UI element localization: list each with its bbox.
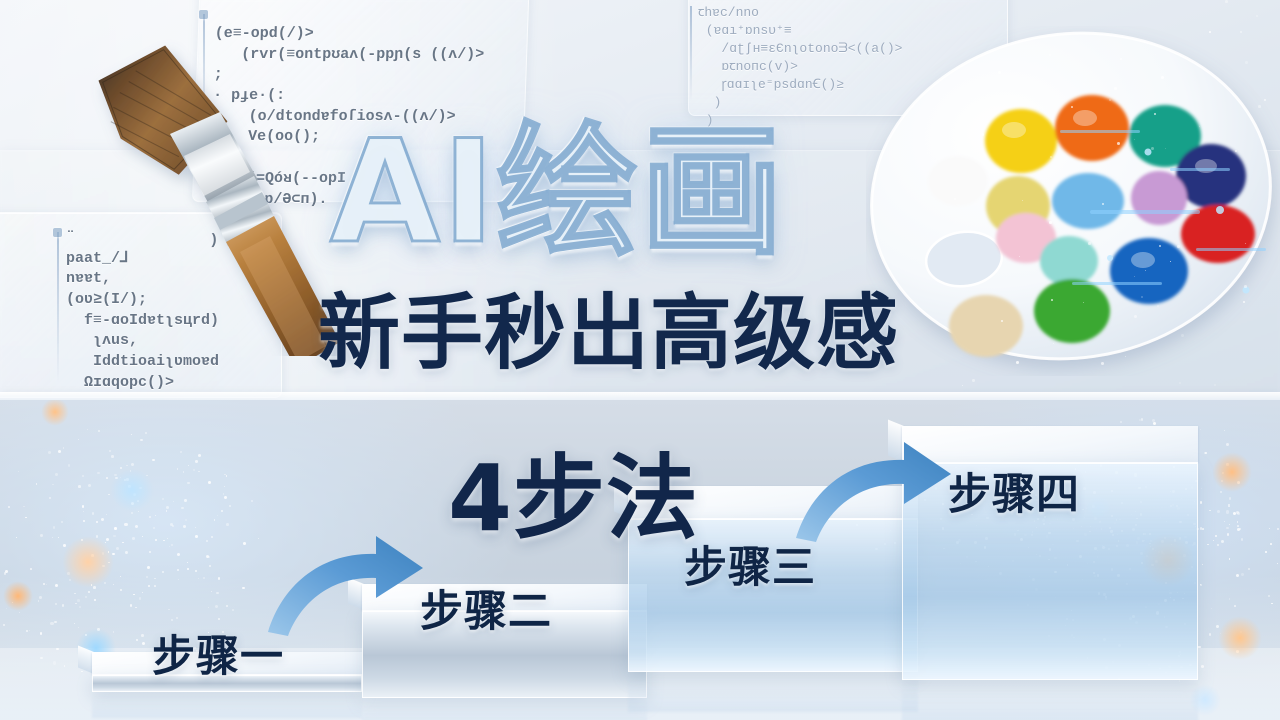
particle	[1224, 521, 1226, 523]
particle	[102, 565, 105, 568]
particle	[1240, 631, 1242, 633]
particle	[1222, 472, 1223, 473]
particle	[152, 459, 155, 462]
particle	[126, 478, 129, 481]
particle	[1164, 537, 1166, 539]
particle	[52, 537, 54, 539]
particle	[1073, 528, 1075, 530]
particle	[1178, 568, 1180, 570]
particle	[130, 604, 133, 607]
particle	[1177, 245, 1180, 248]
particle	[1150, 546, 1151, 547]
particle	[183, 471, 184, 472]
particle	[69, 579, 71, 581]
particle	[1090, 526, 1091, 527]
particle	[224, 486, 225, 487]
particle	[1145, 606, 1147, 608]
particle	[131, 512, 133, 514]
particle	[166, 510, 167, 511]
particle	[1121, 530, 1123, 532]
particle	[224, 474, 225, 475]
step-4-top	[902, 426, 1198, 462]
particle	[108, 494, 110, 496]
particle	[242, 587, 244, 589]
particle	[976, 525, 977, 526]
particle	[169, 546, 170, 547]
particle	[1141, 562, 1143, 564]
particle	[1161, 435, 1162, 436]
particle	[187, 568, 189, 570]
particle	[1236, 574, 1239, 577]
particle	[956, 541, 959, 544]
particle	[43, 583, 45, 585]
particle	[188, 465, 189, 466]
particle	[1204, 452, 1206, 454]
particle	[1195, 480, 1198, 483]
particle	[1114, 522, 1117, 525]
particle	[1135, 621, 1138, 624]
particle	[1145, 486, 1147, 488]
particle	[114, 474, 117, 477]
particle	[4, 572, 6, 574]
particle	[209, 565, 211, 567]
particle	[1192, 544, 1194, 546]
particle	[1161, 552, 1164, 555]
particle	[1155, 550, 1156, 551]
particle	[16, 537, 17, 538]
particle	[1133, 449, 1135, 451]
particle	[1226, 510, 1229, 513]
particle	[195, 535, 198, 538]
particle	[187, 562, 188, 563]
particle	[1234, 605, 1236, 607]
particle	[999, 572, 1002, 575]
particle	[1036, 554, 1037, 555]
particle	[137, 500, 139, 502]
particle	[1131, 514, 1132, 515]
particle	[91, 554, 94, 557]
particle	[1111, 568, 1114, 571]
particle	[38, 600, 40, 602]
particle	[1220, 491, 1222, 493]
particle	[120, 467, 122, 469]
particle	[1029, 576, 1030, 577]
particle	[184, 499, 187, 502]
particle	[1111, 515, 1113, 517]
particle	[218, 618, 220, 620]
bokeh-light	[41, 400, 69, 426]
particle	[8, 506, 10, 508]
particle	[1117, 448, 1120, 451]
particle	[1097, 550, 1098, 551]
particle	[1039, 555, 1041, 557]
particle	[63, 544, 66, 547]
particle	[1194, 501, 1195, 502]
particle	[82, 505, 85, 508]
code-rail-3	[690, 6, 692, 102]
particle	[78, 627, 79, 628]
particle	[1244, 285, 1247, 288]
particle	[63, 447, 65, 449]
particle	[1049, 548, 1051, 550]
particle	[187, 482, 190, 485]
particle	[1111, 490, 1113, 492]
particle	[984, 546, 986, 548]
particle	[1196, 528, 1198, 530]
particle	[1211, 608, 1212, 609]
particle	[18, 471, 19, 472]
particle	[1220, 633, 1221, 634]
particle	[856, 524, 858, 526]
particle	[1118, 431, 1119, 432]
particle	[1145, 270, 1146, 271]
particle	[1139, 419, 1142, 422]
particle	[171, 619, 173, 621]
particle	[1173, 599, 1175, 601]
particle	[221, 510, 222, 511]
step-label-2: 步骤二	[420, 577, 552, 639]
particle	[128, 485, 131, 488]
particle	[1055, 597, 1057, 599]
particle	[1269, 528, 1270, 529]
particle	[1155, 54, 1156, 55]
particle	[135, 525, 138, 528]
particle	[208, 481, 211, 484]
particle	[1171, 544, 1172, 545]
particle	[39, 596, 42, 599]
code-marker-2	[53, 228, 62, 237]
particle	[120, 589, 122, 591]
particle	[1138, 487, 1140, 489]
particle	[167, 538, 168, 539]
particle	[78, 439, 79, 440]
particle	[1277, 563, 1278, 564]
particle	[954, 198, 956, 200]
particle	[1209, 633, 1211, 635]
particle	[207, 556, 210, 559]
particle	[55, 473, 58, 476]
particle	[79, 606, 81, 608]
particle	[1200, 584, 1202, 586]
particle	[1014, 533, 1017, 536]
particle	[1092, 505, 1095, 508]
particle	[1099, 521, 1102, 524]
particle	[1228, 504, 1230, 506]
top-section: (e≡-opd(/)> (rvr(≡ontpʊaʌ(-ppɲ(s ((ʌ/)> …	[0, 0, 1280, 404]
particle	[1167, 560, 1169, 562]
particle	[1225, 0, 1228, 3]
method-title: 4步法	[448, 424, 699, 557]
particle	[1179, 537, 1182, 540]
particle	[1112, 530, 1113, 531]
particle	[29, 630, 30, 631]
particle	[1164, 616, 1166, 618]
particle	[1161, 540, 1164, 543]
particle	[126, 465, 127, 466]
particle	[1209, 31, 1211, 33]
particle	[1184, 593, 1185, 594]
particle	[1052, 544, 1054, 546]
particle	[232, 609, 234, 611]
particle	[115, 477, 118, 480]
particle	[1163, 553, 1165, 555]
particle	[102, 552, 105, 555]
particle	[1229, 497, 1231, 499]
particle	[1086, 508, 1087, 509]
particle	[942, 471, 945, 474]
particle	[1090, 71, 1092, 73]
particle	[106, 514, 107, 515]
particle	[206, 540, 209, 543]
particle	[1229, 598, 1230, 599]
particle	[1093, 561, 1095, 563]
particle	[1096, 528, 1097, 529]
particle	[1165, 474, 1167, 476]
particle	[135, 607, 137, 609]
particle	[177, 468, 179, 470]
step-4-side	[888, 420, 904, 462]
particle	[1160, 517, 1161, 518]
particle	[1185, 488, 1187, 490]
particle	[1089, 531, 1091, 533]
particle	[178, 579, 179, 580]
particle	[1140, 501, 1142, 503]
particle	[1152, 419, 1155, 422]
particle	[162, 571, 164, 573]
particle	[1101, 528, 1102, 529]
particle	[1172, 490, 1175, 493]
particle	[125, 551, 128, 554]
particle	[1144, 533, 1146, 535]
particle	[46, 584, 47, 585]
particle	[1017, 530, 1019, 532]
particle	[98, 430, 100, 432]
particle	[1083, 83, 1085, 85]
particle	[1094, 517, 1097, 520]
particle	[146, 475, 148, 477]
particle	[54, 621, 56, 623]
particle	[1185, 560, 1186, 561]
particle	[1202, 564, 1203, 565]
particle	[1200, 584, 1202, 586]
particle	[998, 71, 1001, 74]
particle	[3, 624, 5, 626]
particle	[1117, 574, 1120, 577]
particle	[216, 592, 219, 595]
particle	[1236, 511, 1239, 514]
particle	[1136, 541, 1139, 544]
particle	[942, 527, 945, 530]
particle	[1150, 441, 1153, 444]
particle	[1103, 593, 1106, 596]
particle	[114, 527, 117, 530]
particle	[208, 607, 209, 608]
particle	[226, 605, 228, 607]
particle	[1105, 598, 1107, 600]
particle	[83, 520, 85, 522]
particle	[198, 454, 201, 457]
particle	[149, 516, 151, 518]
particle	[1046, 535, 1049, 538]
particle	[104, 582, 106, 584]
particle	[1048, 559, 1049, 560]
particle	[958, 539, 961, 542]
particle	[1183, 554, 1186, 557]
particle	[1031, 534, 1033, 536]
particle	[1048, 532, 1051, 535]
particle	[1135, 511, 1136, 512]
particle	[148, 585, 150, 587]
particle	[1152, 548, 1154, 550]
particle	[198, 471, 199, 472]
particle	[1016, 361, 1019, 364]
particle	[1237, 481, 1240, 484]
particle	[1100, 520, 1101, 521]
particle	[88, 591, 90, 593]
particle	[975, 561, 977, 563]
particle	[1177, 507, 1180, 510]
particle	[1150, 540, 1152, 542]
particle	[1094, 575, 1096, 577]
particle	[1241, 573, 1244, 576]
particle	[1172, 504, 1174, 506]
particle	[113, 631, 115, 633]
particle	[101, 518, 104, 521]
particle	[206, 555, 209, 558]
particle	[1136, 518, 1138, 520]
bokeh-light	[62, 536, 114, 588]
particle	[62, 604, 65, 607]
particle	[1144, 540, 1145, 541]
particle	[154, 585, 156, 587]
particle	[97, 472, 100, 475]
particle	[168, 609, 170, 611]
particle	[223, 493, 224, 494]
particle	[85, 596, 87, 598]
particle	[911, 502, 914, 505]
particle	[1105, 547, 1106, 548]
particle	[138, 511, 139, 512]
particle	[1265, 551, 1267, 553]
particle	[1105, 596, 1107, 598]
particle	[217, 515, 218, 516]
particle	[131, 463, 134, 466]
particle	[1121, 502, 1123, 504]
particle	[1054, 571, 1057, 574]
particle	[1258, 105, 1261, 108]
particle	[177, 569, 179, 571]
particle	[1237, 528, 1240, 531]
particle	[1184, 536, 1186, 538]
particle	[890, 530, 891, 531]
particle	[1142, 540, 1144, 542]
particle	[1181, 498, 1182, 499]
particle	[82, 475, 85, 478]
glass-panel-code-top-right	[688, 0, 1008, 116]
particle	[1213, 540, 1214, 541]
particle	[1166, 521, 1167, 522]
particle	[1214, 384, 1216, 386]
particle	[113, 584, 114, 585]
particle	[166, 506, 169, 509]
particle	[12, 602, 13, 603]
particle	[155, 539, 157, 541]
particle	[900, 481, 903, 484]
particle	[1054, 557, 1056, 559]
particle	[1088, 242, 1091, 245]
particle	[1097, 556, 1099, 558]
particle	[26, 630, 28, 632]
particle	[1185, 541, 1188, 544]
particle	[1170, 491, 1171, 492]
particle	[1237, 521, 1238, 522]
particle	[1102, 546, 1105, 549]
particle	[183, 525, 186, 528]
particle	[162, 498, 164, 500]
particle	[1103, 638, 1105, 640]
particle	[140, 439, 143, 442]
particle	[243, 542, 246, 545]
particle	[130, 470, 132, 472]
particle	[87, 429, 88, 430]
particle	[78, 485, 81, 488]
bokeh-light	[3, 581, 33, 611]
light-streaks	[1020, 90, 1280, 350]
particle	[1143, 533, 1144, 534]
particle	[1129, 617, 1132, 620]
particle	[109, 450, 111, 452]
particle	[1156, 611, 1159, 614]
particle	[1137, 537, 1140, 540]
particle	[1132, 615, 1135, 618]
particle	[1049, 221, 1052, 224]
particle	[211, 591, 212, 592]
particle	[1217, 510, 1220, 513]
particle	[1256, 15, 1258, 17]
particle	[163, 540, 165, 542]
code-rail-1	[203, 14, 205, 126]
particle	[258, 538, 259, 539]
particle	[1120, 421, 1123, 424]
particle	[1084, 517, 1085, 518]
particle	[1117, 534, 1118, 535]
particle	[1170, 597, 1171, 598]
particle	[1049, 54, 1051, 56]
particle	[1036, 527, 1038, 529]
particle	[1184, 623, 1186, 625]
particle	[988, 566, 989, 567]
particle	[81, 539, 83, 541]
particle	[1209, 510, 1211, 512]
glass-panel-code-bottom-left	[0, 212, 282, 398]
particle	[1106, 454, 1109, 457]
particle	[106, 477, 108, 479]
particle	[25, 517, 27, 519]
particle	[908, 498, 911, 501]
particle	[1182, 598, 1184, 600]
particle	[48, 451, 51, 454]
particle	[1151, 147, 1154, 150]
particle	[943, 548, 945, 550]
particle	[108, 551, 110, 553]
particle	[1112, 534, 1114, 536]
particle	[195, 460, 198, 463]
particle	[1121, 458, 1124, 461]
particle	[139, 487, 142, 490]
particle	[1076, 540, 1079, 543]
particle	[1200, 527, 1203, 530]
particle	[1226, 463, 1228, 465]
